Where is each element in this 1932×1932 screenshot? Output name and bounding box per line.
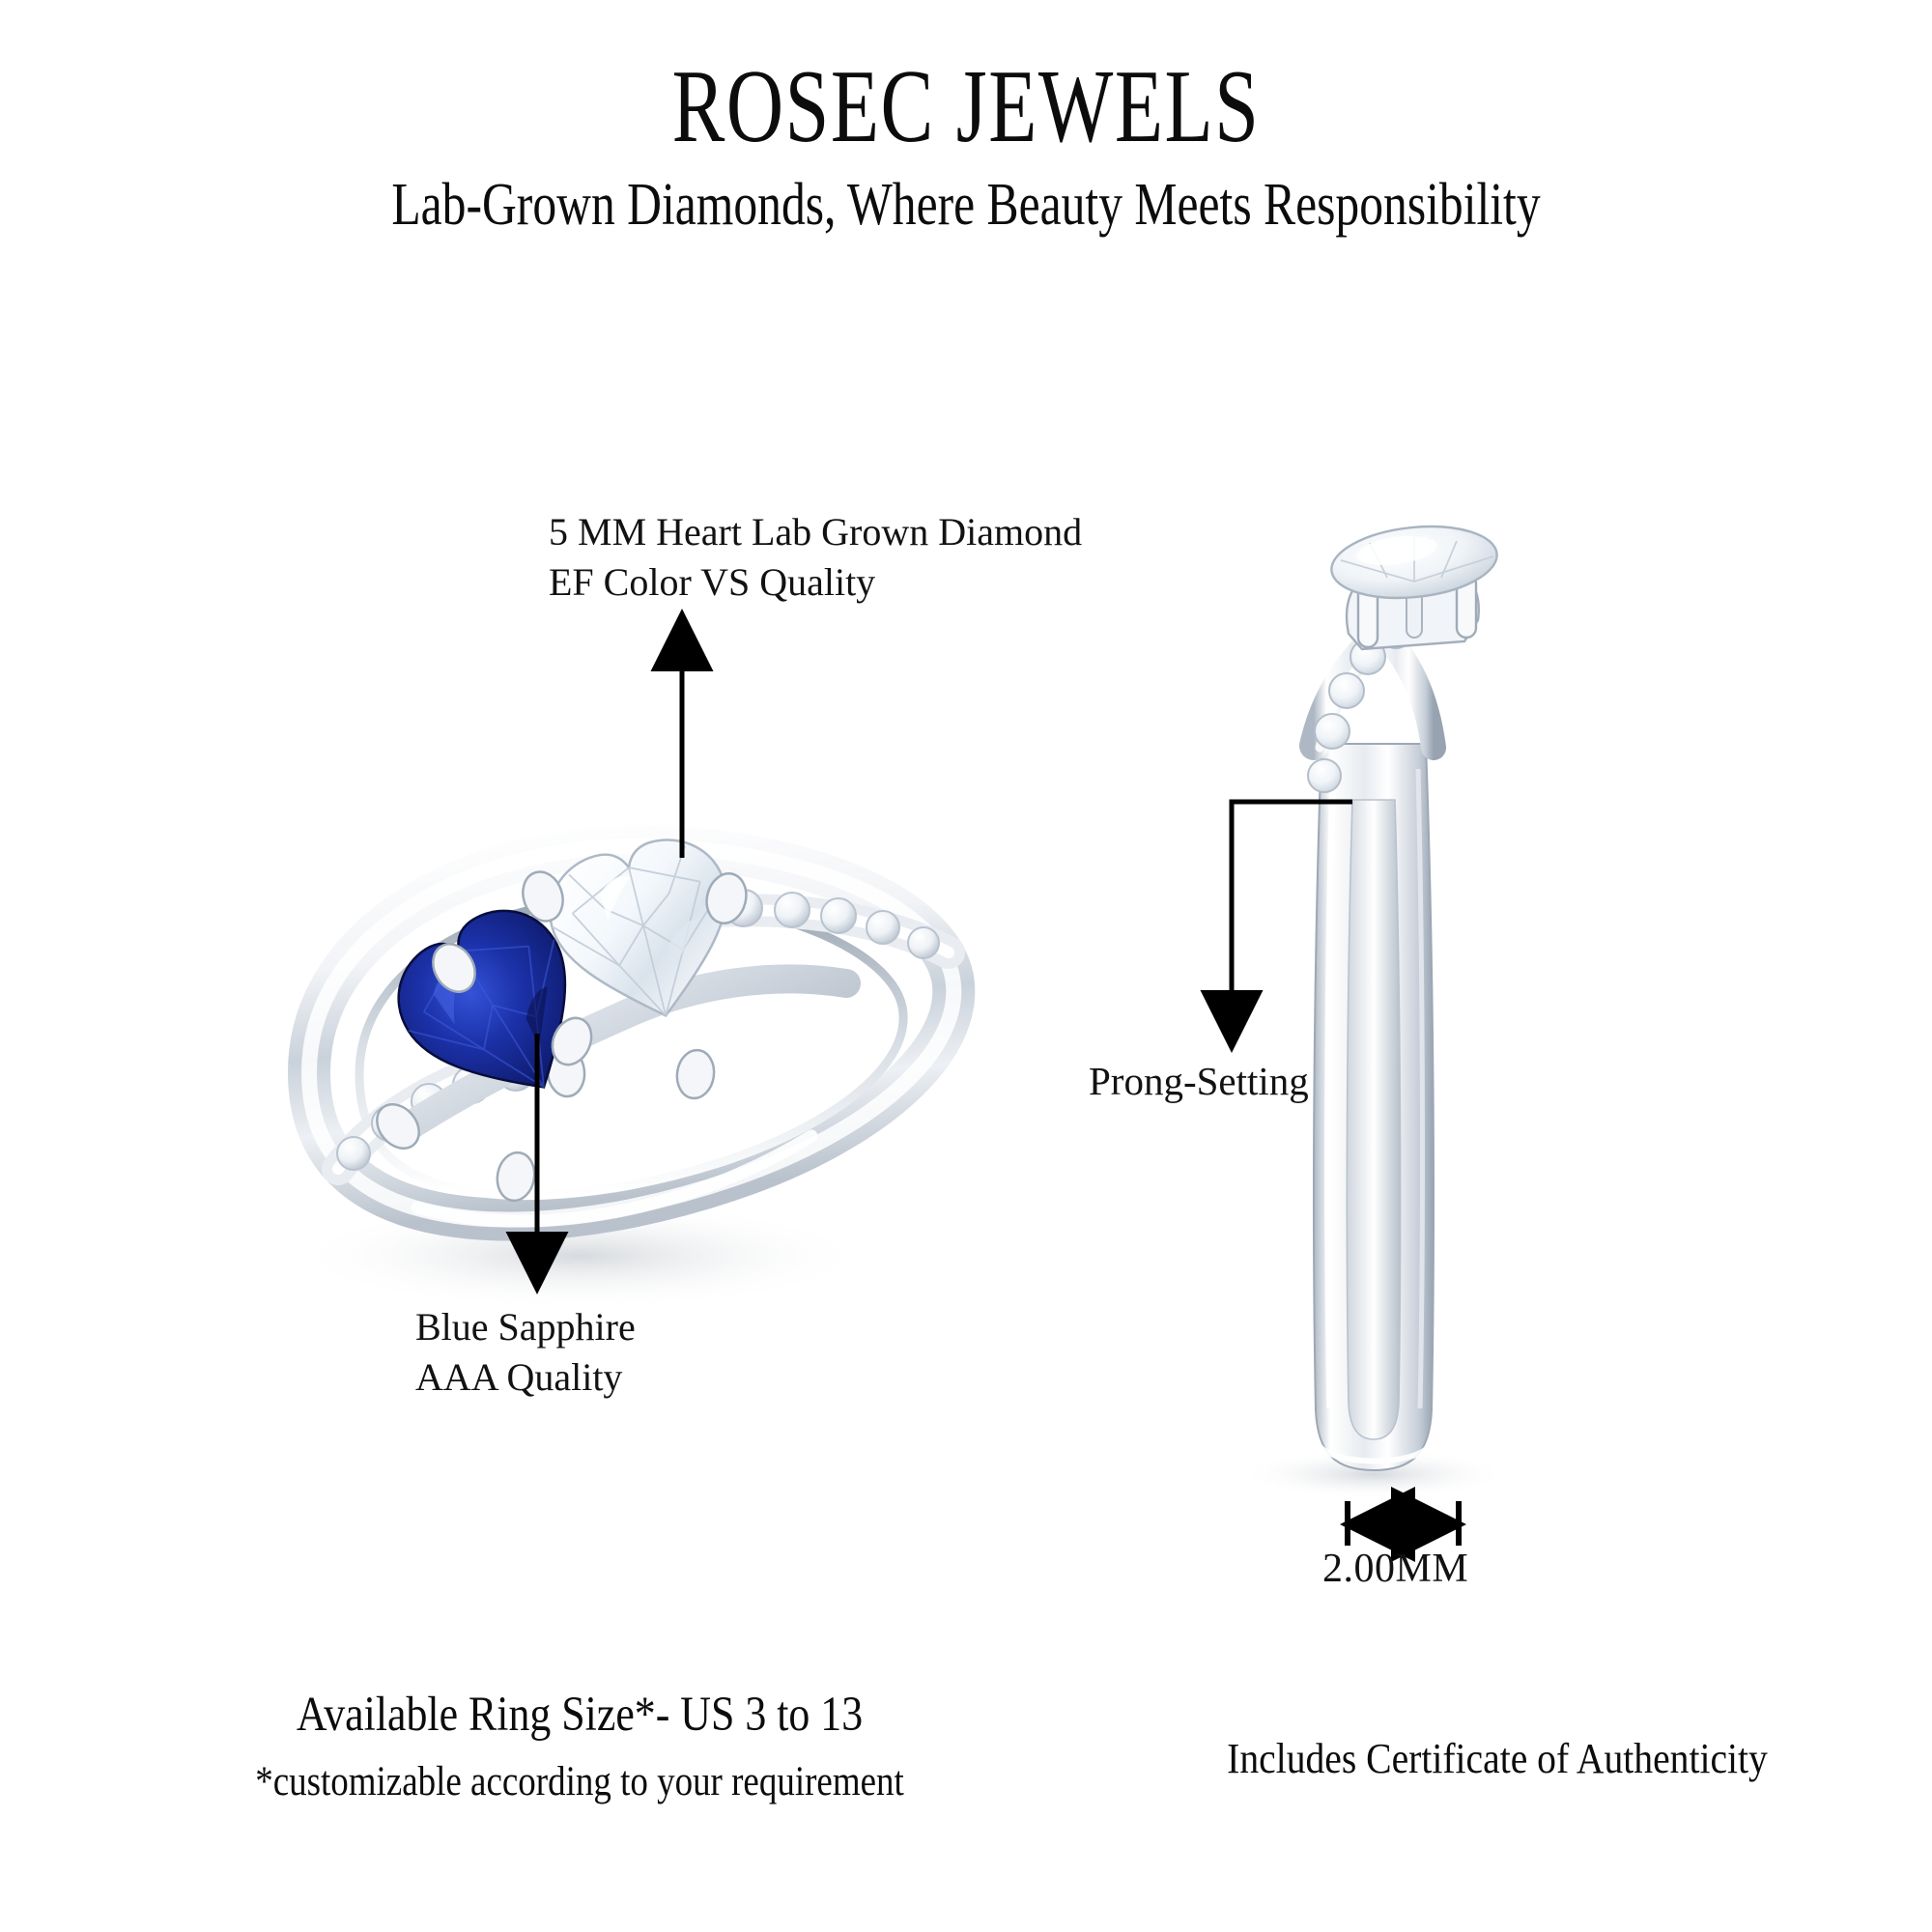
ring-size-text: Available Ring Size*- US 3 to 13	[239, 1686, 920, 1744]
center-stone-callout-line-2: EF Color VS Quality	[549, 557, 1082, 608]
customizable-note: *customizable according to your requirem…	[239, 1757, 920, 1807]
page-title: ROSEC JEWELS	[232, 54, 1700, 160]
side-band-body	[1314, 744, 1434, 1470]
certificate-text: Includes Certificate of Authenticity	[1193, 1734, 1802, 1785]
ring-side-view-svg	[1198, 541, 1623, 1526]
prong-setting-callout: Prong-Setting	[1089, 1056, 1309, 1107]
footer-right-block: Includes Certificate of Authenticity	[1159, 1734, 1835, 1785]
brand-tagline: Lab-Grown Diamonds, Where Beauty Meets R…	[193, 172, 1739, 238]
sapphire-callout-line-2: AAA Quality	[415, 1352, 636, 1403]
brand-header: ROSEC JEWELS Lab-Grown Diamonds, Where B…	[0, 54, 1932, 238]
sapphire-callout-line-1: Blue Sapphire	[415, 1302, 636, 1352]
center-stone-callout-line-1: 5 MM Heart Lab Grown Diamond	[549, 507, 1082, 557]
ring-side-view-image	[1198, 541, 1623, 1526]
ring-top-view-svg	[193, 753, 1063, 1352]
sapphire-callout: Blue Sapphire AAA Quality	[415, 1302, 636, 1403]
center-stone-callout: 5 MM Heart Lab Grown Diamond EF Color VS…	[549, 507, 1082, 608]
ring-top-view-image	[193, 753, 1063, 1352]
footer-left-block: Available Ring Size*- US 3 to 13 *custom…	[184, 1686, 976, 1807]
band-width-label: 2.00MM	[1322, 1543, 1468, 1596]
